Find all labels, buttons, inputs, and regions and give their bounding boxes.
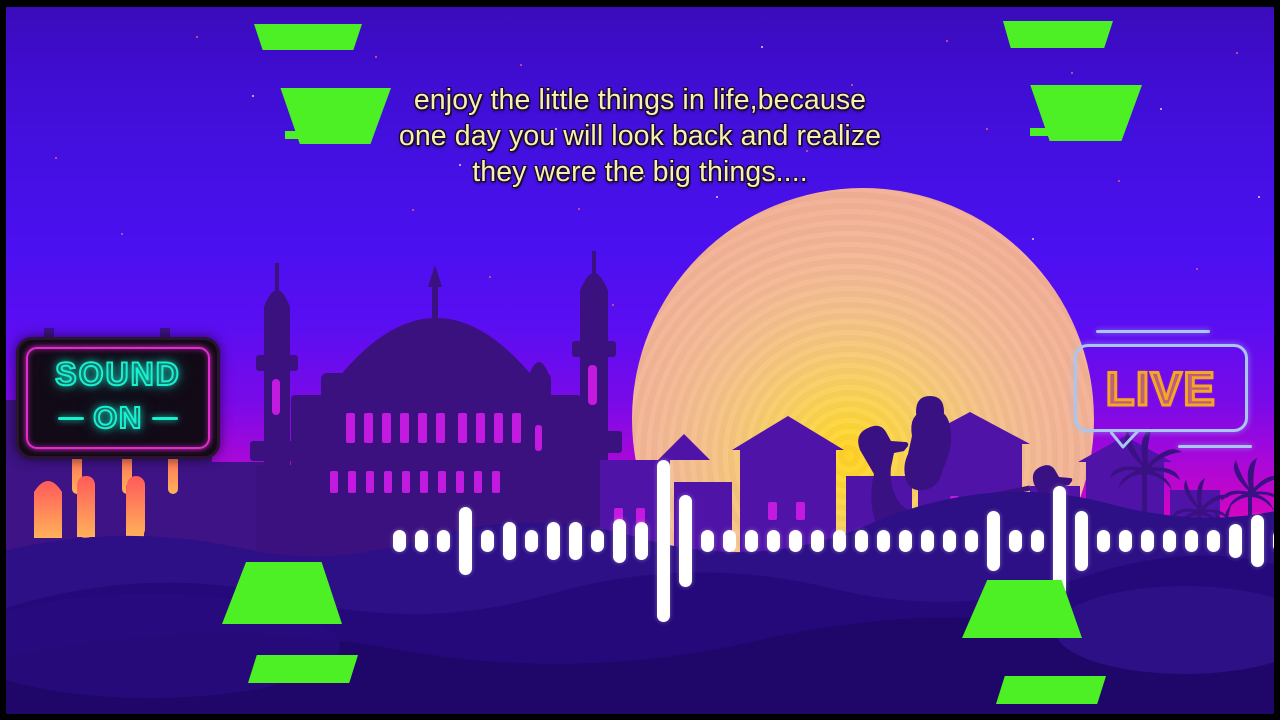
waveform-bar — [415, 530, 428, 552]
waveform-bar — [679, 495, 692, 587]
dash-left-icon — [58, 417, 84, 420]
on-label: ON — [93, 400, 143, 436]
sound-label: SOUND — [19, 356, 217, 393]
star-2 — [121, 233, 123, 235]
waveform-bar — [943, 530, 956, 552]
green-overlay-top-right-small — [1003, 21, 1113, 48]
live-accent-bottom — [1178, 445, 1252, 448]
star-22 — [946, 40, 948, 42]
waveform-bar — [393, 530, 406, 552]
waveform-bar — [1119, 530, 1132, 552]
green-overlay-bottom-left-small — [248, 655, 358, 683]
waveform-bar — [701, 530, 714, 552]
star-26 — [1118, 180, 1120, 182]
audio-waveform[interactable] — [393, 0, 933, 720]
green-overlay-top-right-bar — [1030, 128, 1112, 136]
waveform-bar — [1185, 530, 1198, 552]
waveform-bar — [635, 522, 648, 560]
waveform-bar — [503, 522, 516, 560]
green-overlay-bottom-right-small — [996, 676, 1106, 704]
waveform-bar — [987, 511, 1000, 571]
waveform-bar — [811, 530, 824, 552]
waveform-bar — [591, 530, 604, 552]
waveform-bar — [965, 530, 978, 552]
speech-bubble-tail-icon — [1110, 431, 1140, 449]
waveform-bar — [1075, 511, 1088, 571]
star-7 — [375, 56, 377, 58]
star-24 — [1032, 238, 1034, 240]
waveform-bar — [1163, 530, 1176, 552]
waveform-bar — [899, 530, 912, 552]
green-overlay-top-left-small — [254, 24, 362, 50]
waveform-bar — [877, 530, 890, 552]
sound-on-row: ON — [19, 400, 217, 436]
waveform-bar — [855, 530, 868, 552]
star-4 — [252, 95, 254, 97]
waveform-bar — [547, 522, 560, 560]
waveform-bar — [1229, 524, 1242, 558]
waveform-bar — [1141, 530, 1154, 552]
waveform-bar — [723, 530, 736, 552]
live-badge[interactable]: LIVE — [1074, 344, 1248, 432]
star-1 — [55, 157, 57, 159]
star-27 — [1160, 108, 1162, 110]
waveform-bar — [525, 530, 538, 552]
green-overlay-top-left-bar — [285, 131, 369, 139]
star-28 — [1196, 268, 1198, 270]
waveform-bar — [437, 530, 450, 552]
star-29 — [1236, 52, 1238, 54]
waveform-bar — [1207, 530, 1220, 552]
waveform-bar — [1251, 515, 1264, 567]
waveform-bar — [833, 530, 846, 552]
letterbox-left — [0, 0, 6, 720]
live-accent-top — [1096, 330, 1210, 333]
waveform-bar — [1097, 530, 1110, 552]
visualizer-stage: enjoy the little things in life,because … — [0, 0, 1280, 720]
waveform-bar — [789, 530, 802, 552]
star-30 — [1258, 196, 1260, 198]
star-25 — [1071, 72, 1073, 74]
star-23 — [986, 128, 988, 130]
waveform-bar — [569, 522, 582, 560]
waveform-bar — [1009, 530, 1022, 552]
live-label: LIVE — [1074, 344, 1248, 432]
star-0 — [196, 36, 198, 38]
waveform-bar — [1031, 530, 1044, 552]
letterbox-top — [0, 0, 1280, 7]
waveform-bar — [481, 530, 494, 552]
letterbox-right — [1274, 0, 1280, 720]
waveform-bar — [613, 519, 626, 563]
letterbox-bottom — [0, 714, 1280, 720]
dash-right-icon — [152, 417, 178, 420]
waveform-bar — [921, 530, 934, 552]
waveform-bar — [657, 460, 670, 622]
sound-on-sign[interactable]: SOUND ON — [16, 337, 220, 459]
waveform-bar — [459, 507, 472, 575]
waveform-bar — [767, 530, 780, 552]
waveform-bar — [745, 530, 758, 552]
waveform-bar — [1053, 486, 1066, 596]
